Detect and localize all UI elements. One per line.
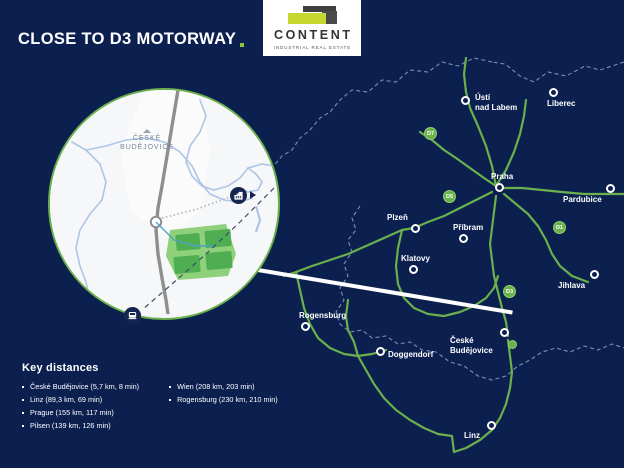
train-icon — [127, 310, 138, 321]
slide-canvas: D7 D5 D1 D3 Ústí nad Labem Liberec Praha… — [0, 0, 624, 468]
key-distances-panel: Key distances České Budějovice (5,7 km, … — [22, 362, 278, 433]
city-marker-dot — [590, 270, 599, 279]
city-label: Doggendorf — [388, 350, 433, 360]
poi-factory-badge[interactable] — [230, 187, 247, 204]
key-distances-heading: Key distances — [22, 362, 278, 374]
city-label: Rogensburg — [299, 311, 346, 321]
city-label: Jihlava — [558, 281, 585, 291]
inset-location-map[interactable]: ČESKÉ BUDĚJOVICE LINZ — [48, 88, 280, 320]
inset-city-line1: ČESKÉ — [102, 135, 192, 144]
city-label-line1: České — [450, 336, 493, 346]
key-distances-columns: České Budějovice (5,7 km, 8 min)Linz (89… — [22, 381, 278, 433]
title-block: CLOSE TO D3 MOTORWAY — [18, 31, 244, 48]
city-marker-dot — [409, 265, 418, 274]
key-distance-item: Wien (208 km, 203 min) — [169, 381, 278, 394]
city-label: Příbram — [453, 223, 483, 233]
city-marker-dot — [459, 234, 468, 243]
key-distance-item: Linz (89,3 km, 69 min) — [22, 394, 139, 407]
key-distance-item: Pilsen (139 km, 126 min) — [22, 420, 139, 433]
marker-triangle-up-icon — [143, 129, 151, 133]
poi-rail-terminal-badge[interactable] — [124, 307, 141, 324]
city-marker-dot — [487, 421, 496, 430]
key-distance-item: České Budějovice (5,7 km, 8 min) — [22, 381, 139, 394]
city-label: Linz — [464, 431, 480, 441]
motorway-badge-d1: D1 — [553, 221, 566, 234]
project-site-marker — [508, 340, 517, 349]
industrial-park-parcels — [166, 224, 236, 280]
city-label-line1: Ústí — [475, 93, 517, 103]
city-label: Pardubice — [563, 195, 602, 205]
factory-icon — [233, 190, 244, 201]
logo-tagline: INDUSTRIAL REAL ESTATE — [273, 46, 351, 51]
page-title: CLOSE TO D3 MOTORWAY — [18, 31, 236, 48]
city-marker-dot — [500, 328, 509, 337]
city-marker-dot — [461, 96, 470, 105]
city-label-line2: Budějovice — [450, 346, 493, 356]
motorway-badge-d5: D5 — [443, 190, 456, 203]
motorway-badge-d7: D7 — [424, 127, 437, 140]
motorway-network — [284, 58, 624, 452]
city-label-line2: nad Labem — [475, 103, 517, 113]
key-distances-list-right: Wien (208 km, 203 min)Rogensburg (230 km… — [169, 381, 278, 433]
inset-city-line2: BUDĚJOVICE — [102, 144, 192, 153]
key-distance-item: Prague (155 km, 117 min) — [22, 407, 139, 420]
city-label: Liberec — [547, 99, 575, 109]
city-label: Klatovy — [401, 254, 430, 264]
city-marker-dot — [301, 322, 310, 331]
logo-mark-icon — [276, 6, 348, 28]
key-distance-item: Rogensburg (230 km, 210 min) — [169, 394, 278, 407]
key-distances-list-left: České Budějovice (5,7 km, 8 min)Linz (89… — [22, 381, 139, 433]
city-marker-dot — [549, 88, 558, 97]
poi-direction-arrow-icon — [250, 191, 256, 199]
inset-label-ceske-budejovice: ČESKÉ BUDĚJOVICE — [102, 129, 192, 153]
city-marker-dot — [376, 347, 385, 356]
city-label: Praha — [491, 172, 513, 182]
city-marker-dot — [495, 183, 504, 192]
city-marker-dot — [606, 184, 615, 193]
motorway-badge-d3: D3 — [503, 285, 516, 298]
city-label: Plzeň — [387, 213, 408, 223]
title-accent-dot — [240, 43, 244, 47]
logo-shape-green — [288, 13, 326, 24]
logo-wordmark: CONTENT — [271, 29, 352, 42]
city-marker-dot — [411, 224, 420, 233]
company-logo: CONTENT INDUSTRIAL REAL ESTATE — [263, 0, 361, 56]
